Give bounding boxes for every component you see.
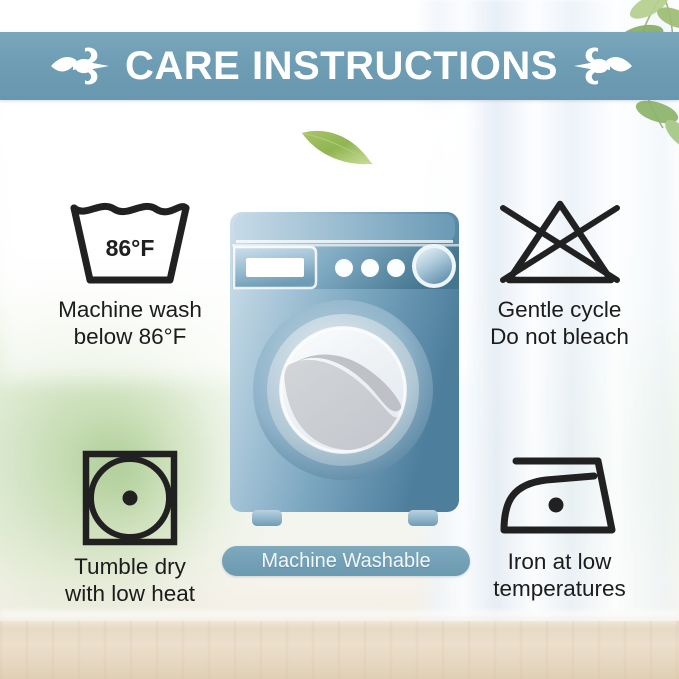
- machine-washable-badge-label: Machine Washable: [261, 551, 430, 571]
- care-symbol-label: Gentle cycle Do not bleach: [490, 297, 629, 350]
- machine-washable-badge: Machine Washable: [222, 546, 470, 576]
- care-symbol-do-not-bleach: Gentle cycle Do not bleach: [452, 196, 667, 350]
- care-symbol-label: Machine wash below 86°F: [58, 297, 202, 350]
- care-symbol-machine-wash: 86°F Machine wash below 86°F: [30, 196, 230, 350]
- indicator-dot-3: [387, 259, 405, 277]
- washing-machine-illustration: [222, 200, 467, 540]
- wash-tub-icon: 86°F: [60, 196, 200, 291]
- machine-foot-right: [408, 510, 438, 526]
- care-symbol-label: Tumble dry with low heat: [65, 554, 195, 607]
- care-symbol-label: Iron at low temperatures: [493, 549, 626, 602]
- triangle-crossed-icon: [485, 196, 635, 291]
- indicator-dot-2: [361, 259, 379, 277]
- control-dial: [416, 248, 452, 284]
- tumble-dry-one-dot-icon: [78, 448, 182, 548]
- header-banner: CARE INSTRUCTIONS: [0, 32, 679, 100]
- indicator-dot-1: [335, 259, 353, 277]
- wash-temperature-text: 86°F: [106, 235, 155, 261]
- detergent-drawer-slot: [246, 258, 304, 277]
- care-symbol-iron: Iron at low temperatures: [452, 448, 667, 602]
- fleur-de-lis-icon-left: [49, 43, 111, 89]
- iron-one-dot-icon: [490, 448, 630, 543]
- care-symbol-tumble-dry: Tumble dry with low heat: [30, 448, 230, 607]
- care-instructions-graphic: CARE INSTRUCTIONS 86°F Machine wash belo…: [0, 0, 679, 679]
- machine-top-lid: [234, 214, 455, 242]
- green-leaf-icon: [296, 118, 380, 174]
- fleur-de-lis-icon-right: [572, 43, 634, 89]
- background-wood-grain: [0, 621, 679, 679]
- machine-foot-left: [252, 510, 282, 526]
- page-title: CARE INSTRUCTIONS: [111, 46, 572, 86]
